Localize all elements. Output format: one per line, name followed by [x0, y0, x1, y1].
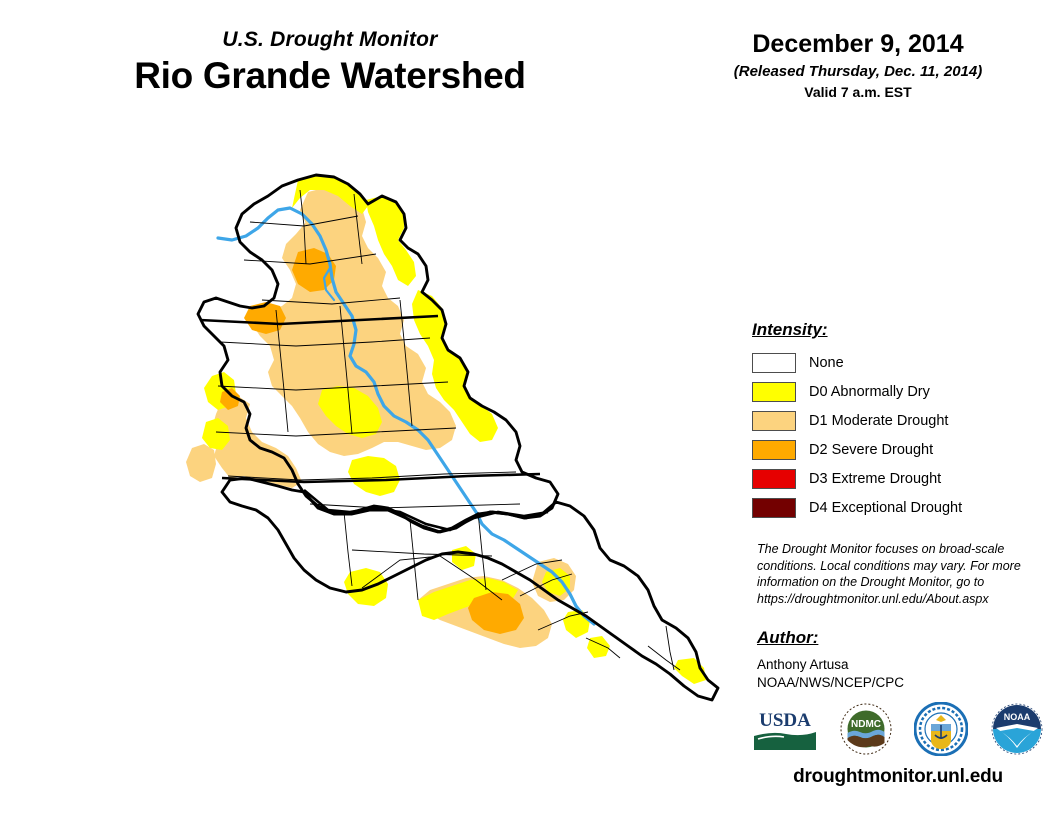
author-name: Anthony Artusa — [757, 656, 1037, 674]
logo-row: USDA NDMC — [752, 702, 1044, 760]
commerce-seal-logo[interactable] — [914, 702, 968, 761]
legend-label-d4: D4 Exceptional Drought — [809, 500, 962, 516]
disclaimer-text: The Drought Monitor focuses on broad-sca… — [757, 541, 1035, 608]
legend-item-d0[interactable]: D0 Abnormally Dry — [752, 377, 1042, 406]
legend-item-d3[interactable]: D3 Extreme Drought — [752, 464, 1042, 493]
page-title: Rio Grande Watershed — [0, 55, 660, 98]
legend-swatch-d4 — [752, 498, 796, 518]
header-left: U.S. Drought Monitor Rio Grande Watershe… — [0, 28, 660, 98]
legend-title: Intensity: — [752, 320, 1042, 340]
legend-label-none: None — [809, 355, 844, 371]
legend-label-d1: D1 Moderate Drought — [809, 413, 948, 429]
author-organization: NOAA/NWS/NCEP/CPC — [757, 674, 1037, 692]
map-svg — [100, 160, 720, 800]
usda-logo[interactable]: USDA — [752, 706, 818, 757]
site-url[interactable]: droughtmonitor.unl.edu — [752, 766, 1044, 788]
header-right: December 9, 2014 (Released Thursday, Dec… — [660, 30, 1056, 100]
author-block: Author: Anthony Artusa NOAA/NWS/NCEP/CPC — [757, 628, 1037, 692]
legend-item-none[interactable]: None — [752, 348, 1042, 377]
noaa-logo-text: NOAA — [1004, 712, 1031, 722]
legend-swatch-d3 — [752, 469, 796, 489]
legend-label-d2: D2 Severe Drought — [809, 442, 933, 458]
legend-item-d1[interactable]: D1 Moderate Drought — [752, 406, 1042, 435]
legend: Intensity: None D0 Abnormally Dry D1 Mod… — [752, 320, 1042, 522]
legend-swatch-none — [752, 353, 796, 373]
program-subtitle: U.S. Drought Monitor — [0, 28, 660, 51]
legend-item-d2[interactable]: D2 Severe Drought — [752, 435, 1042, 464]
usda-logo-text: USDA — [759, 710, 811, 731]
legend-swatch-d0 — [752, 382, 796, 402]
legend-label-d0: D0 Abnormally Dry — [809, 384, 930, 400]
author-title: Author: — [757, 628, 1037, 648]
noaa-logo[interactable]: NOAA — [990, 702, 1044, 761]
ndmc-logo-text: NDMC — [851, 719, 881, 730]
release-date: (Released Thursday, Dec. 11, 2014) — [660, 63, 1056, 80]
d1-region-southwest-tab — [186, 444, 216, 482]
legend-item-d4[interactable]: D4 Exceptional Drought — [752, 493, 1042, 522]
ndmc-logo[interactable]: NDMC — [840, 703, 892, 760]
legend-label-d3: D3 Extreme Drought — [809, 471, 941, 487]
legend-swatch-d1 — [752, 411, 796, 431]
valid-time: Valid 7 a.m. EST — [660, 84, 1056, 100]
legend-swatch-d2 — [752, 440, 796, 460]
drought-map[interactable] — [100, 160, 720, 800]
valid-date: December 9, 2014 — [660, 30, 1056, 59]
